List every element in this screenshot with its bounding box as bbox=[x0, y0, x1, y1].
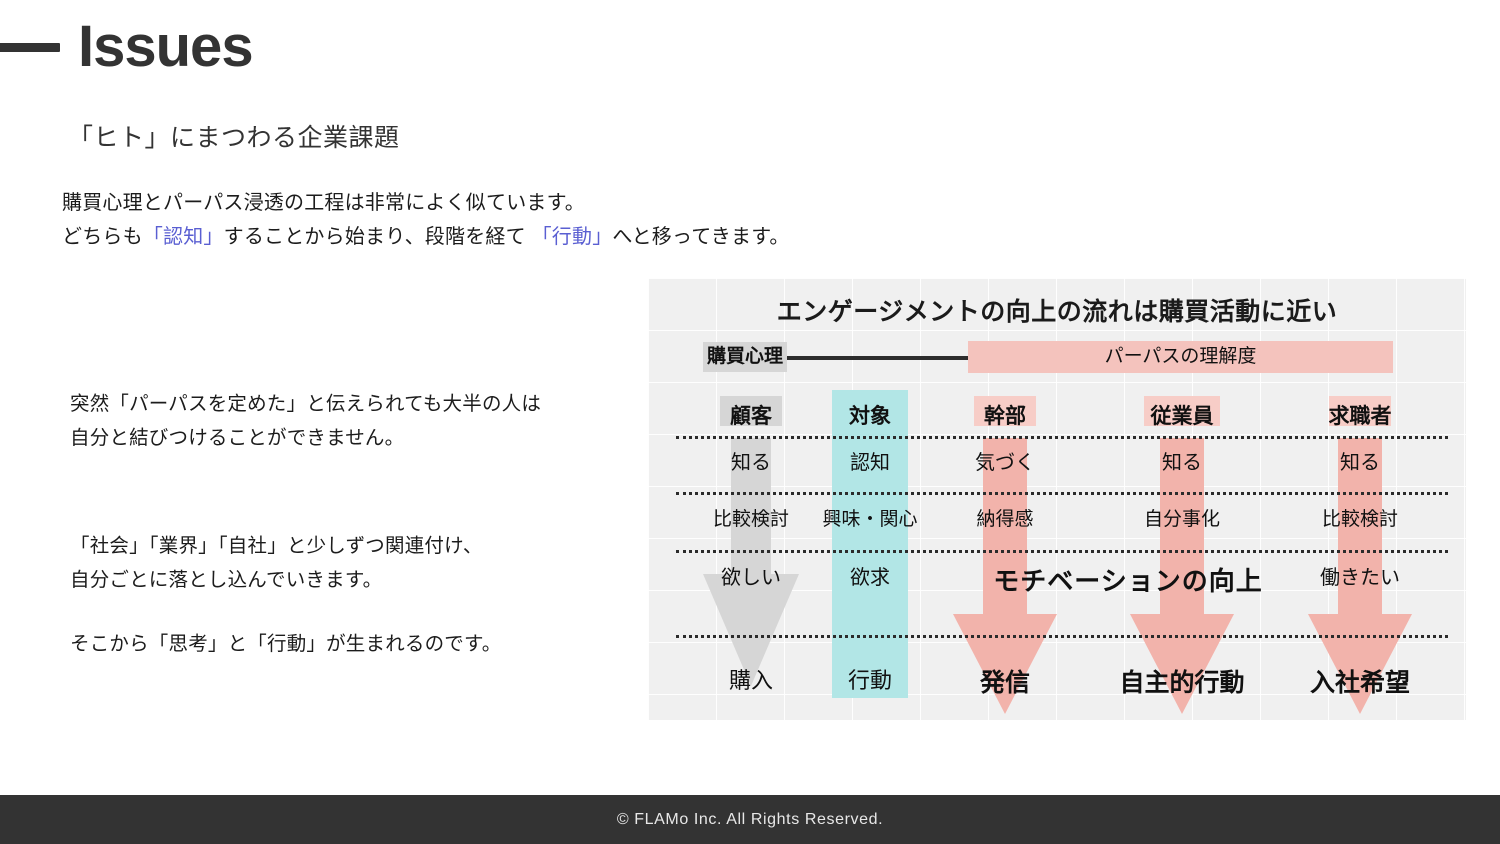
cell-awareness-employee: 知る bbox=[1082, 446, 1282, 475]
body-paragraph-2-line-2: 自分ごとに落とし込んでいきます。 bbox=[70, 564, 483, 598]
cell-interest-applicant: 比較検討 bbox=[1260, 504, 1460, 531]
motivation-overlay-label: モチベーションの向上 bbox=[928, 561, 1328, 598]
cell-action-executive: 発信 bbox=[905, 663, 1105, 699]
scale-connector-line bbox=[775, 356, 968, 360]
column-header-executive: 幹部 bbox=[915, 400, 1095, 430]
column-header-applicant: 求職者 bbox=[1270, 400, 1450, 430]
body-paragraph-1: 突然「パーパスを定めた」と伝えられても大半の人は 自分と結びつけることができませ… bbox=[70, 388, 541, 455]
row-separator-3 bbox=[676, 550, 1448, 553]
body-paragraph-1-line-2: 自分と結びつけることができません。 bbox=[70, 422, 541, 456]
body-paragraph-1-line-1: 突然「パーパスを定めた」と伝えられても大半の人は bbox=[70, 388, 541, 422]
intro-text: 購買心理とパーパス浸透の工程は非常によく似ています。 どちらも「認知」することか… bbox=[62, 186, 790, 255]
body-paragraph-2: 「社会」「業界」「自社」と少しずつ関連付け、 自分ごとに落とし込んでいきます。 bbox=[70, 530, 483, 597]
cell-awareness-executive: 気づく bbox=[905, 446, 1105, 475]
intro-line-2-part-c: することから始まり、段階を経て bbox=[224, 226, 532, 248]
footer-copyright: © FLAMo Inc. All Rights Reserved. bbox=[617, 811, 883, 829]
cell-interest-executive: 納得感 bbox=[905, 504, 1105, 531]
intro-line-1: 購買心理とパーパス浸透の工程は非常によく似ています。 bbox=[62, 186, 790, 220]
page-title: Issues bbox=[78, 18, 253, 76]
title-dash-icon bbox=[0, 43, 60, 52]
cell-action-applicant: 入社希望 bbox=[1260, 663, 1460, 699]
intro-line-2-part-a: どちらも bbox=[62, 226, 143, 248]
intro-line-2: どちらも「認知」することから始まり、段階を経て 「行動」へと移ってきます。 bbox=[62, 220, 790, 254]
cell-interest-employee: 自分事化 bbox=[1082, 504, 1282, 531]
diagram-title: エンゲージメントの向上の流れは購買活動に近い bbox=[648, 292, 1466, 328]
footer-bar: © FLAMo Inc. All Rights Reserved. bbox=[0, 795, 1500, 844]
scale-label-right: パーパスの理解度 bbox=[968, 341, 1393, 373]
cell-awareness-applicant: 知る bbox=[1260, 446, 1460, 475]
row-separator-2 bbox=[676, 492, 1448, 495]
column-header-employee: 従業員 bbox=[1092, 400, 1272, 430]
intro-keyword-ninchi: 「認知」 bbox=[143, 226, 224, 248]
page-title-row: Issues bbox=[0, 18, 253, 76]
intro-keyword-koudou: 「行動」 bbox=[532, 226, 613, 248]
body-paragraph-3: そこから「思考」と「行動」が生まれるのです。 bbox=[70, 628, 501, 662]
intro-line-2-part-e: へと移ってきます。 bbox=[612, 226, 789, 248]
engagement-flow-diagram: エンゲージメントの向上の流れは購買活動に近い 購買心理 パーパスの理解度 顧客対… bbox=[648, 278, 1466, 720]
cell-action-employee: 自主的行動 bbox=[1082, 663, 1282, 699]
scale-label-left: 購買心理 bbox=[703, 342, 787, 372]
diagram-scale-row: 購買心理 パーパスの理解度 bbox=[648, 342, 1466, 376]
page-subtitle: 「ヒト」にまつわる企業課題 bbox=[68, 118, 400, 154]
row-separator-4 bbox=[676, 635, 1448, 638]
body-paragraph-2-line-1: 「社会」「業界」「自社」と少しずつ関連付け、 bbox=[70, 530, 483, 564]
row-separator-1 bbox=[676, 436, 1448, 439]
body-paragraph-3-line-1: そこから「思考」と「行動」が生まれるのです。 bbox=[70, 628, 501, 662]
